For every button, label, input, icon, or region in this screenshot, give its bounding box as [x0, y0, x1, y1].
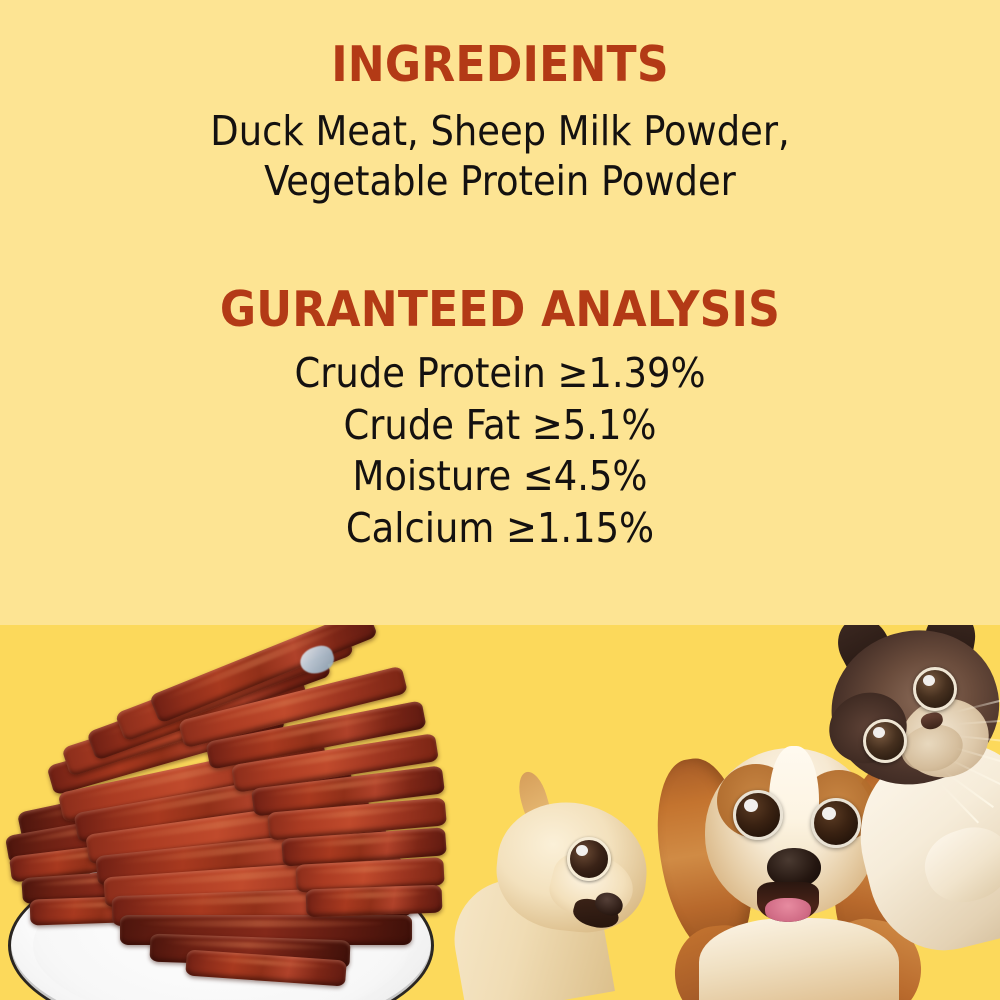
ingredients-line: Duck Meat, Sheep Milk Powder,: [0, 106, 1000, 156]
chihuahua-dog: [455, 745, 675, 1000]
spaniel-eye-left: [733, 790, 783, 840]
analysis-line-calcium: Calcium ≥1.15%: [0, 503, 1000, 555]
ingredients-line: Vegetable Protein Powder: [0, 156, 1000, 206]
cat-eye-upper: [913, 667, 957, 711]
chihuahua-eye: [567, 837, 611, 881]
product-photo-panel: [0, 625, 1000, 1000]
duck-jerky-pile: [0, 625, 440, 985]
guaranteed-analysis-section: GURANTEED ANALYSIS Crude Protein ≥1.39% …: [0, 285, 1000, 555]
ingredients-heading: INGREDIENTS: [0, 40, 1000, 89]
ingredients-text: Duck Meat, Sheep Milk Powder, Vegetable …: [0, 106, 1000, 206]
cat-eye-lower: [863, 719, 907, 763]
nutrition-text-panel: INGREDIENTS Duck Meat, Sheep Milk Powder…: [0, 0, 1000, 625]
ingredients-section: INGREDIENTS Duck Meat, Sheep Milk Powder…: [0, 40, 1000, 206]
product-label-card: INGREDIENTS Duck Meat, Sheep Milk Powder…: [0, 0, 1000, 1000]
himalayan-cat: [805, 625, 1000, 945]
guaranteed-analysis-text: Crude Protein ≥1.39% Crude Fat ≥5.1% Moi…: [0, 348, 1000, 555]
analysis-line-crude-protein: Crude Protein ≥1.39%: [0, 348, 1000, 400]
analysis-line-crude-fat: Crude Fat ≥5.1%: [0, 400, 1000, 452]
guaranteed-analysis-heading: GURANTEED ANALYSIS: [0, 285, 1000, 334]
jerky-strip: [306, 885, 443, 918]
analysis-line-moisture: Moisture ≤4.5%: [0, 451, 1000, 503]
